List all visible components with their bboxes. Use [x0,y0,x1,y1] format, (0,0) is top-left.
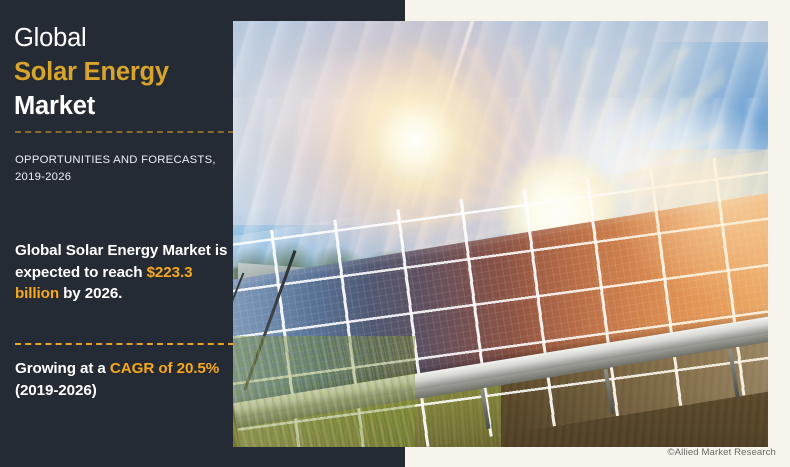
copyright-credit: ©Allied Market Research [667,447,776,458]
infographic-root: Global Solar Energy Market OPPORTUNITIES… [0,0,790,467]
title-line-global: Global [14,21,229,55]
statement-2-prefix: Growing at a [15,360,110,377]
title-line-solar-energy: Solar Energy [14,55,229,89]
title-line-market: Market [14,89,229,123]
statement-2-highlight: CAGR of 20.5% [110,360,219,377]
statement-2-suffix: (2019-2026) [15,382,97,399]
page-title: Global Solar Energy Market [14,21,229,123]
statement-1-suffix: by 2026. [59,285,122,302]
divider-top [15,131,234,133]
divider-bottom [15,343,234,345]
statement-cagr: Growing at a CAGR of 20.5% (2019-2026) [15,358,237,401]
statement-market-value: Global Solar Energy Market is expected t… [15,240,237,305]
statement-1-prefix: Global Solar Energy Market is expected t… [15,242,227,281]
solar-panel-photo [233,21,768,447]
subtitle-opportunities-forecasts: OPPORTUNITIES AND FORECASTS, 2019-2026 [15,152,230,186]
foreground-grass [233,336,415,447]
